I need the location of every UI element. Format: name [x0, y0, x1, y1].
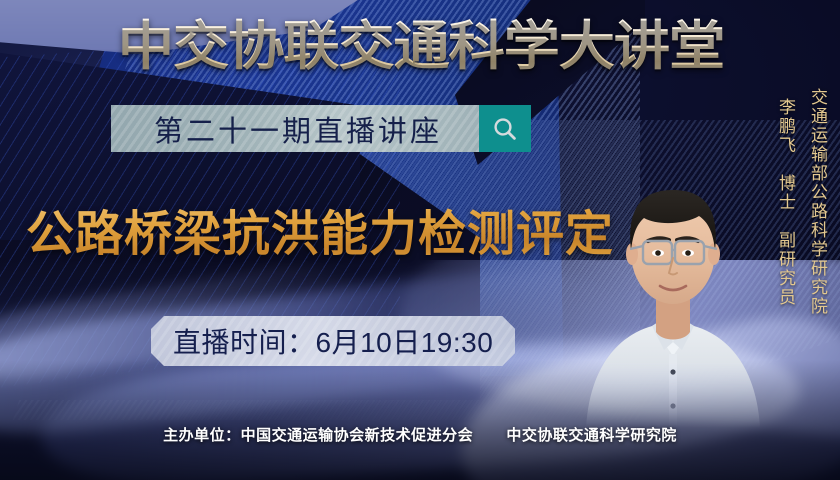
speaker-organization: 交通运输部公路科学研究院: [808, 88, 826, 316]
search-button[interactable]: [479, 105, 531, 152]
footer-organizers: 主办单位：中国交通运输协会新技术促进分会 中交协联交通科学研究院: [0, 424, 840, 445]
subtitle-banner-fill: 第二十一期直播讲座: [111, 105, 479, 152]
search-icon: [491, 115, 519, 143]
footer-organizer-primary: 主办单位：中国交通运输协会新技术促进分会: [163, 427, 473, 444]
webinar-poster: 中交协联交通科学大讲堂 第二十一期直播讲座 公路桥梁抗洪能力检测评定 直播时间：…: [0, 0, 840, 480]
broadcast-time-badge: 直播时间：6月10日19:30: [151, 316, 515, 366]
page-title: 中交协联交通科学大讲堂: [114, 14, 729, 80]
subtitle-label: 第二十一期直播讲座: [148, 108, 442, 150]
subtitle-banner: 第二十一期直播讲座: [111, 105, 531, 152]
speaker-name-title: 李鹏飞 博士 副研究员: [776, 98, 794, 307]
broadcast-time-label: 直播时间：6月10日19:30: [173, 321, 493, 361]
footer-organizer-secondary: 中交协联交通科学研究院: [506, 427, 677, 444]
poster-content: 中交协联交通科学大讲堂 第二十一期直播讲座 公路桥梁抗洪能力检测评定 直播时间：…: [0, 0, 840, 480]
lecture-headline: 公路桥梁抗洪能力检测评定: [26, 205, 614, 263]
